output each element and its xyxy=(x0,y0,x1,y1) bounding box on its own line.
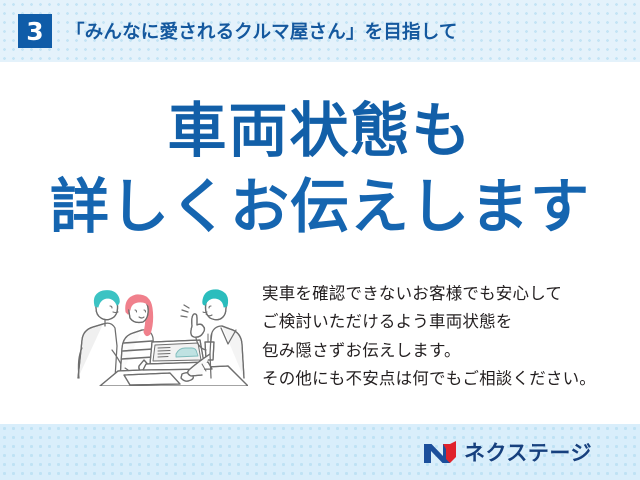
consultation-illustration-graphic xyxy=(58,274,248,386)
body-copy-line-4: その他にも不安点は何でもご相談ください。 xyxy=(262,365,620,393)
footer-band: ネクステージ xyxy=(0,424,640,480)
body-copy-line-3: 包み隠さずお伝えします。 xyxy=(262,337,620,365)
brand-name: ネクステージ xyxy=(464,437,592,467)
header-band: 3 「みんなに愛されるクルマ屋さん」を目指して xyxy=(0,0,640,62)
main-content: 車両状態も 詳しくお伝えします xyxy=(0,62,640,424)
headline-line-2: 詳しくお伝えします xyxy=(0,178,640,237)
body-copy: 実車を確認できないお客様でも安心して ご検討いただけるよう車両状態を 包み隠さず… xyxy=(262,280,620,394)
brand-logo: ネクステージ xyxy=(423,437,592,467)
footer-content: ネクステージ xyxy=(0,424,640,480)
nextage-n-logo-icon xyxy=(423,440,457,464)
header-title: 「みんなに愛されるクルマ屋さん」を目指して xyxy=(66,18,458,44)
header-content: 3 「みんなに愛されるクルマ屋さん」を目指して xyxy=(0,0,640,62)
body-copy-line-1: 実車を確認できないお客様でも安心して xyxy=(262,280,620,308)
body-copy-line-2: ご検討いただけるよう車両状態を xyxy=(262,308,620,336)
headline-line-1: 車両状態も xyxy=(0,102,640,161)
step-number-badge: 3 xyxy=(18,14,52,48)
consultation-illustration xyxy=(58,274,248,386)
promo-slide: 3 「みんなに愛されるクルマ屋さん」を目指して 車両状態も 詳しくお伝えします xyxy=(0,0,640,480)
